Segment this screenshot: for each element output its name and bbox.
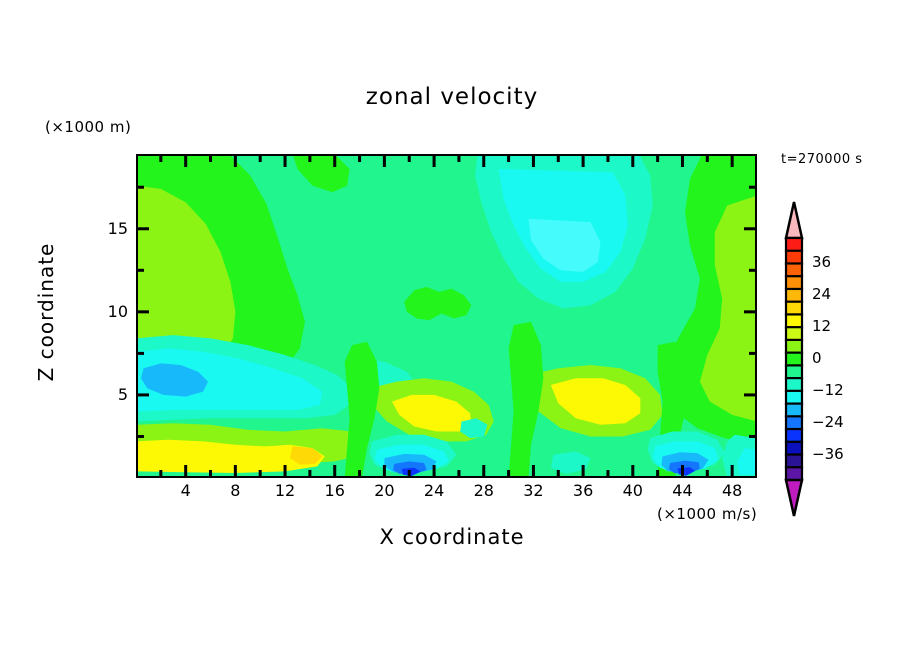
colorbar-tick-label: −36 bbox=[812, 445, 858, 463]
colorbar-tick-label: −12 bbox=[812, 381, 858, 399]
x-axis-title: X coordinate bbox=[0, 525, 904, 549]
x-tick-label: 44 bbox=[662, 481, 702, 500]
colorbar-tick-label: 36 bbox=[812, 253, 858, 271]
y-tick-label: 15 bbox=[96, 219, 128, 238]
x-tick-label: 40 bbox=[613, 481, 653, 500]
plot-frame bbox=[136, 154, 757, 478]
contour-plot-area bbox=[136, 154, 757, 478]
colorbar-tick-label: 24 bbox=[812, 285, 858, 303]
x-tick-label: 16 bbox=[315, 481, 355, 500]
x-tick-label: 24 bbox=[414, 481, 454, 500]
colorbar-tick-label: 0 bbox=[812, 349, 858, 367]
x-tick-label: 4 bbox=[166, 481, 206, 500]
y-tick-label: 5 bbox=[96, 385, 128, 404]
x-tick-label: 48 bbox=[712, 481, 752, 500]
x-tick-label: 32 bbox=[513, 481, 553, 500]
colorbar bbox=[778, 200, 810, 518]
colorbar-tick-label: 12 bbox=[812, 317, 858, 335]
y-axis-title: Z coordinate bbox=[34, 222, 58, 402]
x-tick-label: 36 bbox=[563, 481, 603, 500]
x-tick-label: 8 bbox=[215, 481, 255, 500]
y-axis-unit-label: (×1000 m) bbox=[45, 118, 131, 136]
time-annotation: t=270000 s bbox=[781, 152, 863, 167]
y-tick-label: 10 bbox=[96, 302, 128, 321]
colorbar-unit-label: (×1000 m/s) bbox=[657, 505, 757, 523]
chart-title: zonal velocity bbox=[0, 84, 904, 110]
colorbar-tick-label: −24 bbox=[812, 413, 858, 431]
colorbar-swatches bbox=[778, 200, 810, 518]
x-tick-label: 20 bbox=[364, 481, 404, 500]
x-tick-label: 28 bbox=[464, 481, 504, 500]
x-tick-label: 12 bbox=[265, 481, 305, 500]
